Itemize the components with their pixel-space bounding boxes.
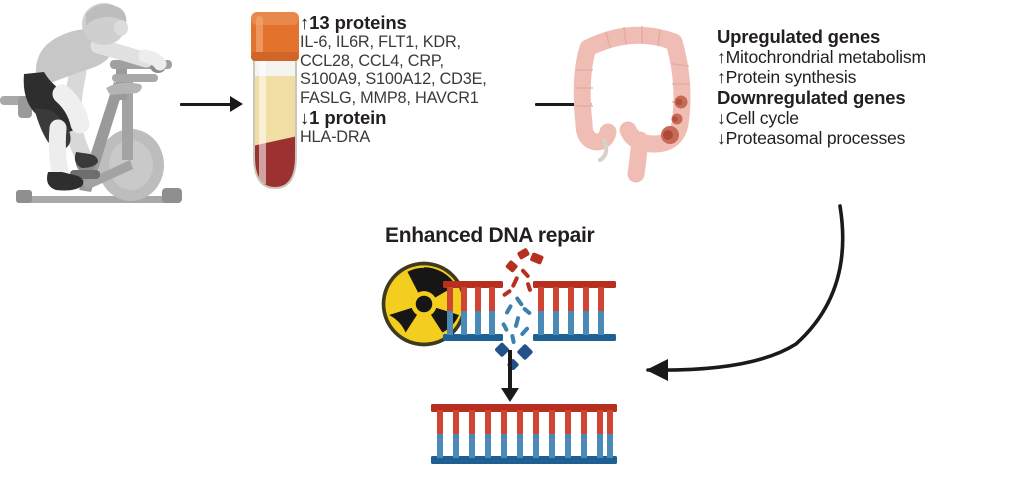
repaired-dna-strand [431, 404, 617, 464]
arrow-head [230, 96, 243, 112]
large-intestine-colon [562, 14, 714, 194]
genes-down-item-0: ↓Cell cycle [717, 108, 926, 128]
arrow-head [646, 359, 668, 381]
dna-rung [453, 410, 459, 458]
colon-svg [562, 14, 714, 194]
proteins-up-header: ↑13 proteins [300, 12, 487, 33]
dna-rung [583, 287, 589, 335]
arrow-genes-to-dna [600, 180, 890, 385]
dna-rung [549, 410, 555, 458]
genes-up-item-1: ↑Protein synthesis [717, 67, 926, 87]
dna-repair-title: Enhanced DNA repair [385, 224, 594, 248]
dna-rung [501, 410, 507, 458]
cyclist-on-stationary-bike [0, 0, 200, 212]
curved-arrow-svg [600, 180, 890, 385]
dna-rung [437, 410, 443, 458]
proteins-up-line-1: CCL28, CCL4, CRP, [300, 52, 487, 71]
genes-down-header: Downregulated genes [717, 87, 926, 108]
arrow-bike-to-tube [180, 95, 244, 115]
dna-break-fragments [485, 248, 555, 370]
dna-rung [475, 287, 481, 335]
proteins-down-line-0: HLA-DRA [300, 128, 487, 147]
blood-tube-svg [247, 8, 303, 194]
dna-rung [597, 410, 603, 458]
protein-changes-block: ↑13 proteins IL-6, IL6R, FLT1, KDR, CCL2… [300, 12, 487, 147]
dna-rung [598, 287, 604, 335]
cyclist-svg [0, 0, 200, 212]
gene-expression-block: Upregulated genes ↑Mitochrondrial metabo… [717, 26, 926, 148]
dna-rung [568, 287, 574, 335]
arrow-shaft [508, 350, 511, 390]
genes-up-item-0: ↑Mitochrondrial metabolism [717, 47, 926, 67]
dna-rung [461, 287, 467, 335]
dna-rung [485, 410, 491, 458]
arrow-shaft [180, 103, 232, 106]
figure-canvas: ↑13 proteins IL-6, IL6R, FLT1, KDR, CCL2… [0, 0, 1024, 477]
genes-up-header: Upregulated genes [717, 26, 926, 47]
dna-repair-title-text: Enhanced DNA repair [385, 224, 594, 247]
blood-collection-tube [247, 8, 303, 194]
proteins-up-line-0: IL-6, IL6R, FLT1, KDR, [300, 33, 487, 52]
dna-rung [447, 287, 453, 335]
genes-down-item-1: ↓Proteasomal processes [717, 128, 926, 148]
dna-rung [517, 410, 523, 458]
arrow-damage-to-repair [500, 350, 520, 402]
dna-rung [469, 410, 475, 458]
dna-rung [607, 410, 613, 458]
dna-rung [581, 410, 587, 458]
proteins-down-header: ↓1 protein [300, 107, 487, 128]
proteins-up-line-2: S100A9, S100A12, CD3E, [300, 70, 487, 89]
fragments-svg [485, 248, 555, 370]
proteins-up-line-3: FASLG, MMP8, HAVCR1 [300, 89, 487, 108]
arrow-head [501, 388, 519, 402]
dna-rung [565, 410, 571, 458]
dna-rung [533, 410, 539, 458]
